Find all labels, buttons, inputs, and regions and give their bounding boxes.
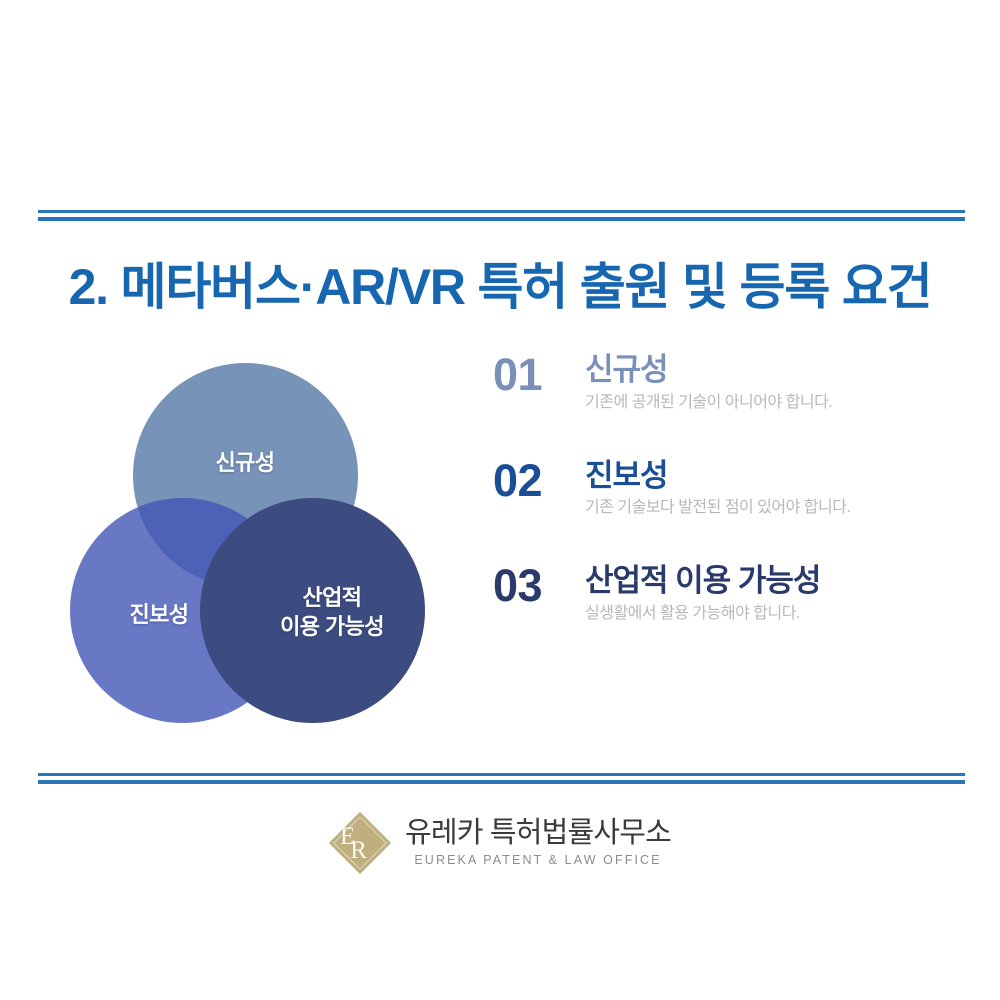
slide-root: 2. 메타버스·AR/VR 특허 출원 및 등록 요건 신규성 진보성 산업적 …	[0, 0, 1000, 1000]
divider-top-thin-line	[38, 217, 965, 221]
requirement-description-02: 기존 기술보다 발전된 점이 있어야 합니다.	[585, 498, 963, 519]
requirement-item-01: 01 신규성 기존에 공개된 기술이 아니어야 합니다.	[493, 352, 963, 414]
requirement-item-03: 03 산업적 이용 가능성 실생활에서 활용 가능해야 합니다.	[493, 563, 963, 625]
divider-bottom	[38, 773, 965, 784]
requirement-body-01: 신규성 기존에 공개된 기술이 아니어야 합니다.	[585, 352, 963, 414]
venn-label-novelty: 신규성	[180, 448, 310, 477]
diamond-shape	[329, 812, 391, 874]
requirement-item-02: 02 진보성 기존 기술보다 발전된 점이 있어야 합니다.	[493, 458, 963, 520]
venn-label-industrial-applicability-line1: 산업적	[252, 583, 412, 612]
venn-label-inventive-step: 진보성	[94, 600, 224, 629]
logo-text-block: 유레카 특허법률사무소 EUREKA PATENT & LAW OFFICE	[405, 818, 671, 868]
company-name-english: EUREKA PATENT & LAW OFFICE	[405, 854, 671, 868]
requirement-number-01: 01	[493, 352, 585, 397]
venn-label-industrial-applicability-line2: 이용 가능성	[252, 612, 412, 641]
divider-top	[38, 210, 965, 221]
requirement-heading-02: 진보성	[585, 459, 963, 494]
requirement-description-01: 기존에 공개된 기술이 아니어야 합니다.	[585, 393, 963, 414]
company-name-korean: 유레카 특허법률사무소	[405, 818, 671, 850]
divider-bottom-thick-line	[38, 773, 965, 776]
venn-label-industrial-applicability: 산업적 이용 가능성	[252, 583, 412, 641]
requirement-body-03: 산업적 이용 가능성 실생활에서 활용 가능해야 합니다.	[585, 563, 963, 625]
requirement-description-03: 실생활에서 활용 가능해야 합니다.	[585, 604, 963, 625]
requirement-heading-01: 신규성	[585, 353, 963, 388]
requirement-number-03: 03	[493, 563, 585, 608]
venn-diagram: 신규성 진보성 산업적 이용 가능성	[60, 355, 440, 730]
requirements-list: 01 신규성 기존에 공개된 기술이 아니어야 합니다. 02 진보성 기존 기…	[493, 352, 963, 625]
page-title: 2. 메타버스·AR/VR 특허 출원 및 등록 요건	[0, 247, 1000, 319]
requirement-number-02: 02	[493, 458, 585, 503]
diamond-logo-icon: E R	[329, 812, 391, 874]
footer-logo: E R 유레카 특허법률사무소 EUREKA PATENT & LAW OFFI…	[0, 812, 1000, 874]
requirement-heading-03: 산업적 이용 가능성	[585, 564, 963, 599]
divider-top-thick-line	[38, 210, 965, 213]
requirement-body-02: 진보성 기존 기술보다 발전된 점이 있어야 합니다.	[585, 458, 963, 520]
divider-bottom-thin-line	[38, 780, 965, 784]
